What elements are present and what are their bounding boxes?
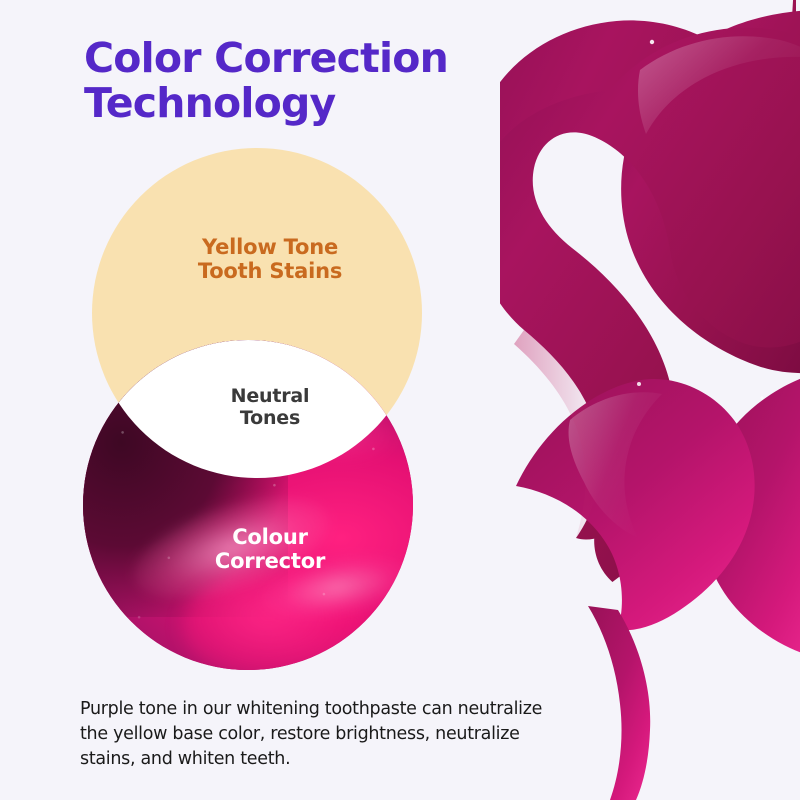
toothpaste-swirl-image <box>500 0 800 800</box>
venn-diagram: Yellow Tone Tooth Stains Neutral Tones C… <box>70 140 470 700</box>
promo-graphic: Color Correction Technology Yellow Tone … <box>0 0 800 800</box>
venn-label-corrector-line-1: Colour <box>70 525 470 549</box>
texture-bright-area <box>182 571 373 670</box>
venn-label-yellow-line-2: Tooth Stains <box>70 259 470 283</box>
venn-label-neutral-line-1: Neutral <box>70 385 470 407</box>
venn-label-colour-corrector: Colour Corrector <box>70 525 470 574</box>
venn-label-corrector-line-2: Corrector <box>70 549 470 573</box>
caption-text: Purple tone in our whitening toothpaste … <box>80 697 550 772</box>
page-title: Color Correction Technology <box>84 36 554 126</box>
venn-label-neutral-tones: Neutral Tones <box>70 385 470 429</box>
venn-label-yellow-tone: Yellow Tone Tooth Stains <box>70 235 470 284</box>
venn-label-yellow-line-1: Yellow Tone <box>70 235 470 259</box>
title-line-1: Color Correction <box>84 36 554 81</box>
venn-label-neutral-line-2: Tones <box>70 407 470 429</box>
title-line-2: Technology <box>84 81 554 126</box>
